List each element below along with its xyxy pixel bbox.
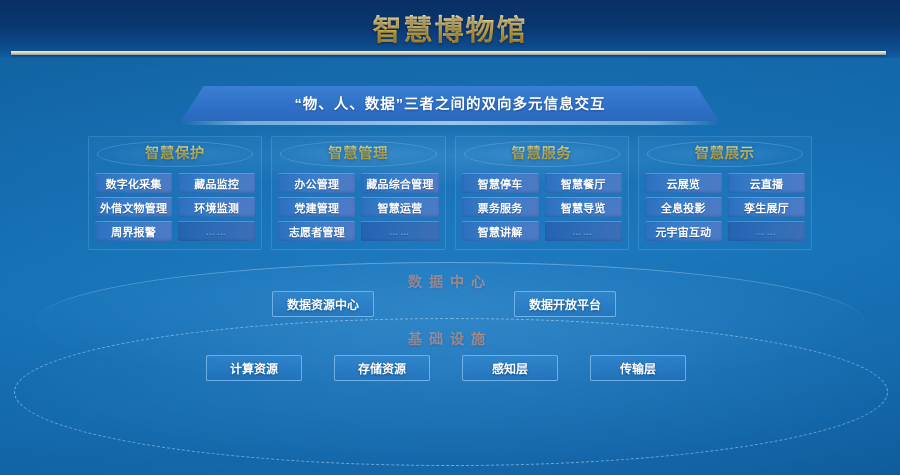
group-protection-header: 智慧保护 [89, 137, 261, 169]
banner-base-highlight [181, 121, 719, 125]
chip-item[interactable]: 周界报警 [95, 221, 172, 241]
group-protection: 智慧保护 数字化采集 藏品监控 外借文物管理 环境监测 周界报警 …… [88, 136, 262, 250]
infrastructure-layer-label: 基础设施 [0, 329, 900, 349]
chip-item[interactable]: 办公管理 [278, 173, 355, 193]
chip-item[interactable]: 党建管理 [278, 197, 355, 217]
chip-item[interactable]: 环境监测 [178, 197, 255, 217]
chip-item[interactable]: 孪生展厅 [728, 197, 805, 217]
group-exhibition: 智慧展示 云展览 云直播 全息投影 孪生展厅 元宇宙互动 …… [638, 136, 812, 250]
group-management: 智慧管理 办公管理 藏品综合管理 党建管理 智慧运营 志愿者管理 …… [271, 136, 445, 250]
capability-groups: 智慧保护 数字化采集 藏品监控 外借文物管理 环境监测 周界报警 …… 智慧管理… [88, 136, 812, 248]
chip-item[interactable]: 外借文物管理 [95, 197, 172, 217]
group-management-chips: 办公管理 藏品综合管理 党建管理 智慧运营 志愿者管理 …… [278, 173, 438, 241]
infra-box-transport[interactable]: 传输层 [590, 355, 686, 381]
group-service-header: 智慧服务 [456, 137, 628, 169]
chip-item[interactable]: 全息投影 [645, 197, 722, 217]
group-service-title: 智慧服务 [512, 143, 572, 163]
group-exhibition-chips: 云展览 云直播 全息投影 孪生展厅 元宇宙互动 …… [645, 173, 805, 241]
group-management-header: 智慧管理 [272, 137, 444, 169]
group-protection-chips: 数字化采集 藏品监控 外借文物管理 环境监测 周界报警 …… [95, 173, 255, 241]
chip-item[interactable]: 智慧讲解 [462, 221, 539, 241]
slide-canvas: 智慧博物馆 “物、人、数据”三者之间的双向多元信息交互 智慧保护 数字化采集 藏… [0, 0, 900, 475]
data-layer-label: 数据中心 [0, 272, 900, 292]
chip-item[interactable]: 智慧运营 [361, 197, 438, 217]
chip-item[interactable]: 志愿者管理 [278, 221, 355, 241]
group-management-title: 智慧管理 [328, 143, 388, 163]
chip-item-more[interactable]: …… [545, 221, 622, 241]
chip-item[interactable]: 云展览 [645, 173, 722, 193]
interaction-banner-label: “物、人、数据”三者之间的双向多元信息交互 [181, 86, 719, 121]
group-service: 智慧服务 智慧停车 智慧餐厅 票务服务 智慧导览 智慧讲解 …… [455, 136, 629, 250]
chip-item[interactable]: 藏品综合管理 [361, 173, 438, 193]
page-title: 智慧博物馆 [0, 7, 900, 49]
infra-box-storage[interactable]: 存储资源 [334, 355, 430, 381]
chip-item[interactable]: 智慧餐厅 [545, 173, 622, 193]
group-protection-title: 智慧保护 [145, 143, 205, 163]
chip-item-more[interactable]: …… [728, 221, 805, 241]
infra-box-compute[interactable]: 计算资源 [206, 355, 302, 381]
data-box-open-platform[interactable]: 数据开放平台 [514, 291, 616, 317]
chip-item[interactable]: 云直播 [728, 173, 805, 193]
group-exhibition-title: 智慧展示 [695, 143, 755, 163]
chip-item-more[interactable]: …… [361, 221, 438, 241]
chip-item[interactable]: 智慧停车 [462, 173, 539, 193]
chip-item[interactable]: 智慧导览 [545, 197, 622, 217]
header-divider [11, 51, 886, 55]
chip-item[interactable]: 藏品监控 [178, 173, 255, 193]
chip-item-more[interactable]: …… [178, 221, 255, 241]
group-service-chips: 智慧停车 智慧餐厅 票务服务 智慧导览 智慧讲解 …… [462, 173, 622, 241]
infra-box-sensing[interactable]: 感知层 [462, 355, 558, 381]
group-exhibition-header: 智慧展示 [639, 137, 811, 169]
chip-item[interactable]: 元宇宙互动 [645, 221, 722, 241]
data-box-resource-center[interactable]: 数据资源中心 [272, 291, 374, 317]
interaction-banner: “物、人、数据”三者之间的双向多元信息交互 [181, 86, 719, 121]
chip-item[interactable]: 数字化采集 [95, 173, 172, 193]
header-bar: 智慧博物馆 [0, 0, 900, 58]
chip-item[interactable]: 票务服务 [462, 197, 539, 217]
